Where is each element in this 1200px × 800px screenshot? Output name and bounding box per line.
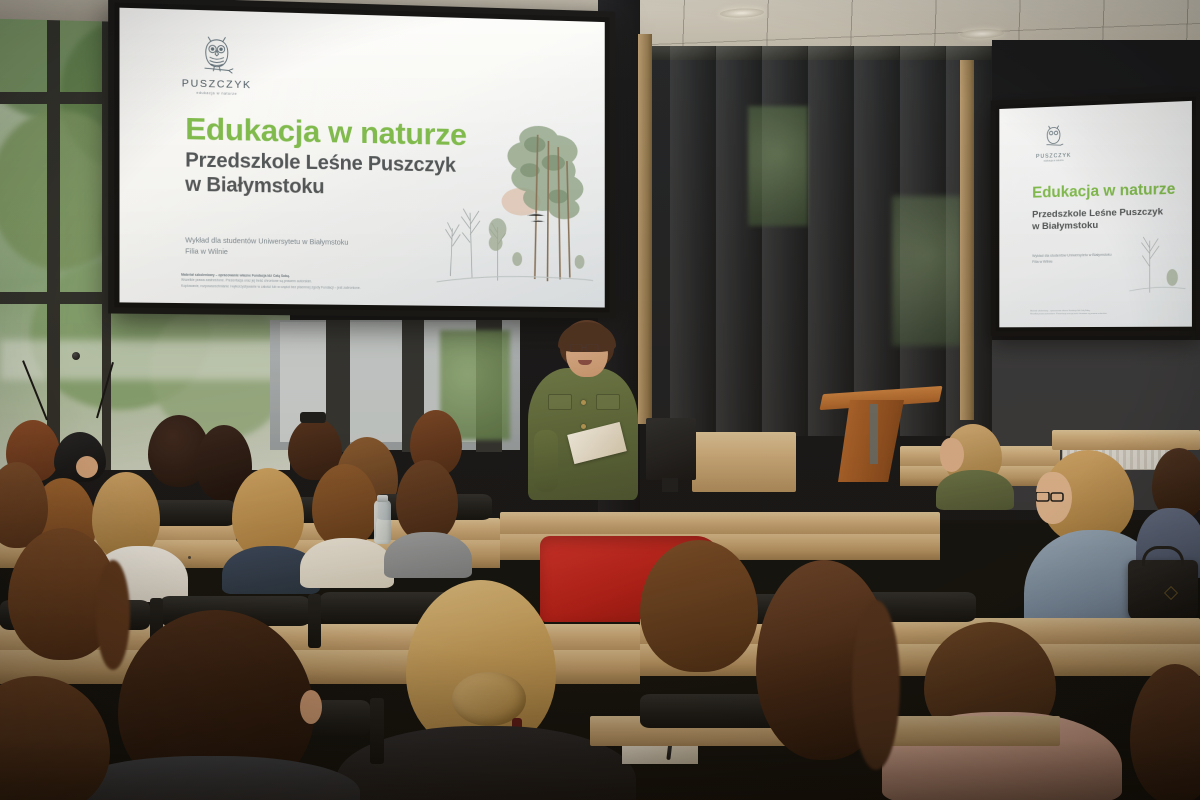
presenter-glasses xyxy=(570,344,600,352)
front-shadow xyxy=(0,740,1200,800)
audience-top-olive xyxy=(936,470,1014,510)
handbag-handle xyxy=(1142,546,1184,566)
slide2-note-line2: Filia w Wilnie xyxy=(1032,258,1111,265)
projection-screen-main[interactable]: PUSZCZYK edukacja w naturze Edukacja w n… xyxy=(108,0,615,318)
blinds-wall xyxy=(652,46,992,436)
window-mullion xyxy=(0,292,108,304)
presenter-desk xyxy=(692,432,796,492)
lectern-slot xyxy=(870,404,878,464)
slide2-fine-line2: Wszelkie prawa zastrzeżone. Prezentacja … xyxy=(1030,313,1173,317)
presenter-button xyxy=(581,400,586,405)
logo-wordmark: PUSZCZYK xyxy=(179,77,254,91)
blind-slat[interactable] xyxy=(762,46,808,436)
puszczyk-logo: PUSZCZYK edukacja w naturze xyxy=(179,34,254,97)
audience-glasses xyxy=(1036,492,1064,502)
blind-window-gap xyxy=(748,106,808,226)
presenter-button xyxy=(581,424,586,429)
water-bottle[interactable] xyxy=(374,500,391,544)
audience-member-beanie-face xyxy=(76,456,98,478)
far-window-strip xyxy=(350,322,402,442)
presenter-arm xyxy=(534,430,558,492)
slide-subtitle: Przedszkole Leśne Puszczyk w Białymstoku xyxy=(185,149,455,201)
slide-title: Edukacja w naturze xyxy=(185,111,466,153)
hair-strand xyxy=(96,560,130,670)
pine-forest-illustration-secondary xyxy=(1129,223,1186,295)
presenter-monitor[interactable] xyxy=(646,418,696,480)
hair-claw-clip xyxy=(300,412,326,423)
slide2-note-line1: Wykład dla studentów Uniwersytetu w Biał… xyxy=(1032,253,1111,260)
projection-screen-secondary[interactable]: PUSZCZYK edukacja w naturze Edukacja w n… xyxy=(991,91,1200,336)
audience-top-grey xyxy=(384,532,472,578)
slide2-title: Edukacja w naturze xyxy=(1032,181,1175,203)
window-mullion xyxy=(0,92,108,104)
seat-divider xyxy=(308,594,321,648)
side-desk-upper xyxy=(1052,430,1200,450)
blind-slat[interactable] xyxy=(716,46,762,436)
blind-slat[interactable] xyxy=(808,46,854,436)
slide-secondary: PUSZCZYK edukacja w naturze Edukacja w n… xyxy=(999,101,1192,327)
handbag[interactable] xyxy=(1128,560,1198,622)
audience-top-cream xyxy=(300,538,394,588)
pine-forest-illustration xyxy=(437,109,594,292)
blind-slat[interactable] xyxy=(670,46,716,436)
audience-member-olive-face xyxy=(940,438,964,472)
logo-tagline: edukacja w naturze xyxy=(179,90,254,96)
slide2-note: Wykład dla studentów Uniwersytetu w Biał… xyxy=(1032,253,1111,266)
lecture-hall-photo: PUSZCZYK edukacja w naturze Edukacja w n… xyxy=(0,0,1200,800)
wood-trim xyxy=(638,34,652,424)
audience-ear xyxy=(300,690,322,724)
owl-icon xyxy=(1044,124,1064,149)
slide2-fine-print: Materiał szkoleniowy – opracowanie własn… xyxy=(1030,309,1173,317)
presenter-pocket xyxy=(596,394,620,410)
seat-bolt xyxy=(188,556,191,559)
window-mullion xyxy=(47,0,60,470)
puszczyk-logo-secondary: PUSZCZYK edukacja w naturze xyxy=(1032,124,1075,163)
microphone-head xyxy=(72,352,80,360)
slide-note-line2: Filia w Wilnie xyxy=(185,246,348,260)
presenter-pocket xyxy=(548,394,572,410)
bench-desk-row4r xyxy=(500,512,940,536)
slide-main: PUSZCZYK edukacja w naturze Edukacja w n… xyxy=(119,8,604,308)
wood-trim-right xyxy=(960,60,974,420)
monitor-stand xyxy=(662,478,678,492)
blind-window-gap xyxy=(892,196,962,346)
owl-icon xyxy=(199,34,234,75)
water-bottle-cap xyxy=(377,495,388,502)
audience-member-bottle-holder xyxy=(312,464,378,548)
audience-member-grey-top xyxy=(396,460,458,542)
audience-member-red-jacket xyxy=(640,540,758,672)
slide-note: Wykład dla studentów Uniwersytetu w Biał… xyxy=(185,234,348,259)
